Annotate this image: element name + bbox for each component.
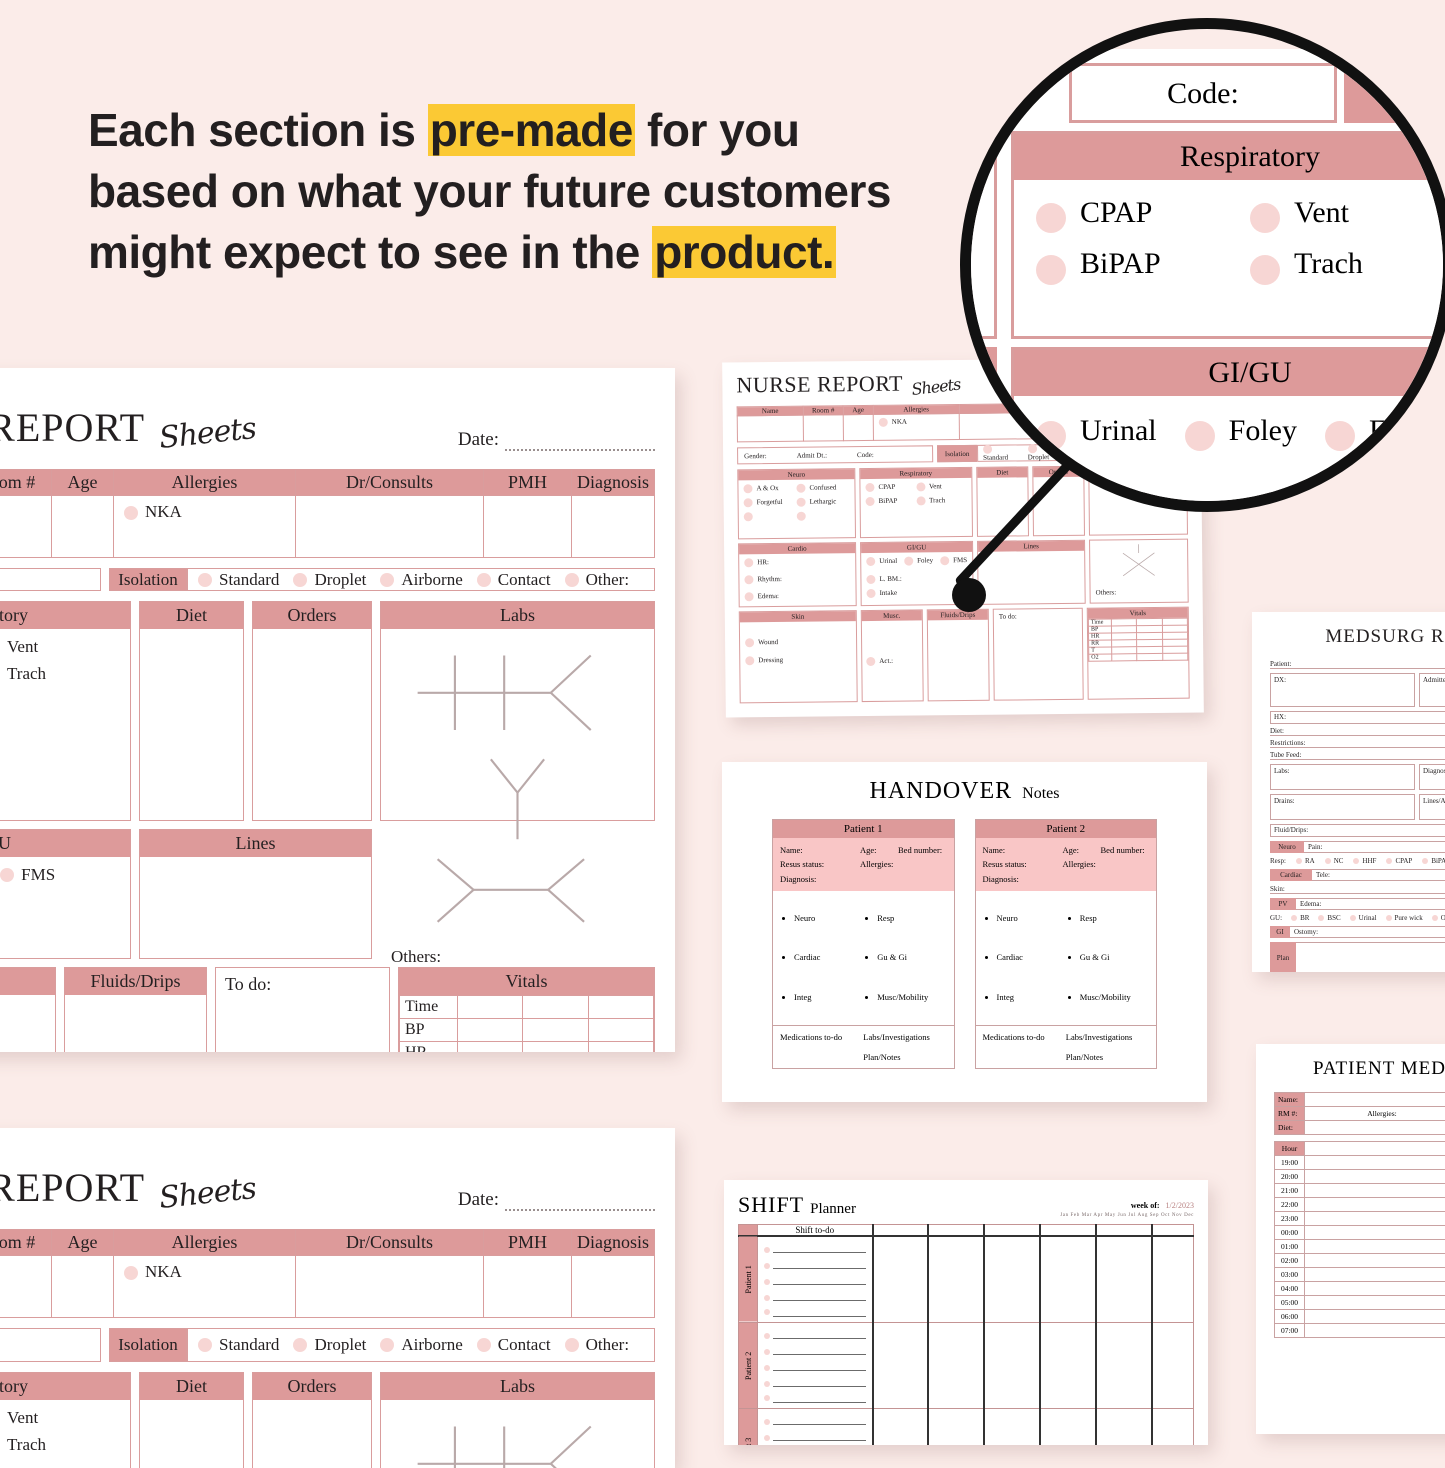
resp-option-trach[interactable]: Trach (916, 496, 967, 506)
headline-highlight-premade: pre-made (428, 104, 635, 156)
checkbox-icon[interactable] (764, 1279, 770, 1285)
mag-resp-option-cpap[interactable]: CPAP (1036, 196, 1250, 233)
resp-row: Resp: RA NC HHF CPAP BiPAP (1270, 857, 1445, 865)
month-aug[interactable]: Aug (1138, 1213, 1148, 1218)
resp-option-hhf[interactable]: HHF (1353, 857, 1376, 865)
isolation-options: Standard Droplet Airborne Contact Other: (187, 568, 655, 591)
panel-skin: Skin Wound Dressing (739, 610, 858, 703)
neuro-option-aox[interactable]: A & Ox (743, 484, 796, 494)
mag-gigu-option-foley[interactable]: Foley (1185, 414, 1297, 451)
panel-body[interactable] (140, 1400, 243, 1468)
cell-age[interactable] (52, 496, 114, 558)
sheet-title-script: Sheets (158, 1171, 258, 1216)
checkbox-icon[interactable] (764, 1295, 770, 1301)
panel-header: Labs (381, 1373, 654, 1400)
month-selector[interactable]: Jan Feb Mar Apr May Jun Jul Aug Sep Oct … (1060, 1213, 1194, 1218)
labs-fishbone-icon (1095, 544, 1182, 583)
field-diagnosis: Diagnosis: (780, 872, 947, 886)
isolation-strip: Code: Isolation Standard Droplet Airborn… (0, 568, 655, 591)
neuro-label: Neuro (1270, 841, 1304, 853)
resp-option-trach[interactable]: Trach (0, 664, 120, 684)
shift-title: SHIFT (738, 1192, 804, 1218)
checkbox-icon[interactable] (866, 557, 875, 566)
resp-option-vent[interactable]: Vent (0, 637, 120, 657)
panel-diet: Diet (139, 1372, 244, 1468)
panel-body: Urinal Foley FMS L. BM.: Intake (0, 857, 130, 972)
vitals-row-hr: HR (400, 1042, 654, 1053)
checkbox-icon[interactable] (866, 656, 875, 665)
nurse-report-sheet-large: NURSE REPORT Sheets Date: Name Room # Ag… (0, 368, 675, 1052)
day-col-3[interactable] (984, 1225, 1040, 1237)
hour-cell: 00:00 (1275, 1226, 1305, 1240)
hour-cell: 07:00 (1275, 1324, 1305, 1338)
mag-resp-option-vent[interactable]: Vent (1250, 196, 1445, 233)
checkbox-icon[interactable] (743, 484, 752, 493)
patient-footer[interactable]: Medications to-do Labs/InvestigationsPla… (976, 1025, 1157, 1068)
month-dec[interactable]: Dec (1184, 1213, 1194, 1218)
month-sep[interactable]: Sep (1150, 1213, 1159, 1218)
patient-fields[interactable]: Name:Age:Bed number: Resus status:Allerg… (773, 838, 954, 891)
diagnostics-field[interactable]: Diagnostics: (1419, 764, 1445, 790)
checkbox-icon[interactable] (744, 512, 753, 521)
checkbox-icon[interactable] (380, 1338, 394, 1352)
ostomy-field[interactable]: Ostomy: (1290, 926, 1445, 938)
gu-option-urinal[interactable]: Urinal (1350, 914, 1377, 922)
resp-option-bipap[interactable]: BiPAP (1422, 857, 1445, 865)
checkbox-icon[interactable] (764, 1419, 770, 1425)
checkbox-icon[interactable] (477, 573, 491, 587)
mag-isolation-label: Isolation (1344, 63, 1445, 123)
gu-option-br[interactable]: BR (1291, 914, 1309, 922)
resp-option-bipap[interactable]: BiPAP (866, 496, 917, 506)
checkbox-icon[interactable] (764, 1333, 770, 1339)
nka-checkbox-icon[interactable] (124, 506, 138, 520)
panel-labs-fishbone[interactable]: Others: (1089, 539, 1189, 604)
checkbox-icon[interactable] (0, 868, 14, 882)
checkbox-icon[interactable] (744, 498, 753, 507)
gu-option-purewick[interactable]: Pure wick (1386, 914, 1423, 922)
skin-option-wound[interactable]: Wound (745, 637, 851, 647)
day-cell[interactable] (1040, 1409, 1096, 1446)
day-col-1[interactable] (873, 1225, 929, 1237)
todo-cell[interactable] (758, 1236, 873, 1323)
panel-body[interactable] (928, 620, 989, 701)
day-cell[interactable] (928, 1323, 984, 1409)
hour-cell: 20:00 (1275, 1170, 1305, 1184)
hour-col-1[interactable] (1305, 1142, 1445, 1156)
checkbox-icon[interactable] (1353, 858, 1359, 864)
patient-footer[interactable]: Medications to-do Labs/InvestigationsPla… (773, 1025, 954, 1068)
dx-field[interactable]: DX: (1270, 673, 1415, 707)
cardio-option-rhythm[interactable]: Rhythm: (744, 574, 850, 584)
footer-plan: Plan/Notes (1066, 1052, 1103, 1062)
date-dotted-line[interactable] (505, 437, 655, 451)
gu-row: GU: BR BSC Urinal Pure wick Other: (1270, 914, 1445, 922)
cardio-option-hr[interactable]: HR: (744, 557, 850, 567)
checkbox-icon[interactable] (796, 484, 805, 493)
checkbox-icon[interactable] (1291, 915, 1297, 921)
checkbox-icon[interactable] (745, 656, 754, 665)
day-cell[interactable] (928, 1236, 984, 1323)
panel-neuro: Neuro A & Ox Forgetful Confused Lethargi… (737, 468, 856, 539)
hx-field[interactable]: HX: (1270, 711, 1445, 724)
resp-option-ra[interactable]: RA (1296, 857, 1315, 865)
panel-body: Act.: (862, 620, 923, 701)
checkbox-icon[interactable] (916, 496, 925, 505)
checkbox-icon[interactable] (293, 573, 307, 587)
panel-body[interactable] (978, 551, 1085, 604)
day-cell[interactable] (1152, 1409, 1194, 1446)
month-nov[interactable]: Nov (1172, 1213, 1182, 1218)
gu-option-other[interactable]: Other: (1432, 914, 1445, 922)
checkbox-icon[interactable] (866, 497, 875, 506)
drains-lines-row: Drains: Lines/Access: (1270, 794, 1445, 820)
col-pmh: PMH (484, 1230, 572, 1256)
mag-partial-body: c (960, 159, 997, 339)
mag-code-field[interactable]: Code: (1069, 63, 1337, 123)
day-cell[interactable] (1040, 1236, 1096, 1323)
checkbox-icon[interactable] (764, 1381, 770, 1387)
panel-body[interactable] (65, 995, 206, 1052)
month-apr[interactable]: Apr (1093, 1213, 1103, 1218)
assess-integ: Integ (997, 978, 1066, 1017)
plan-field[interactable] (1296, 942, 1445, 972)
code-field[interactable]: Code: (0, 568, 101, 591)
gender-code-field[interactable]: Gender: Admit Dt.: Code: (737, 445, 933, 464)
mag-gigu-option-urinal[interactable]: Urinal (1036, 414, 1157, 451)
todo-cell[interactable] (758, 1409, 873, 1446)
code-field[interactable]: Code: (0, 1328, 101, 1362)
sheet-title-script: Sheets (158, 411, 258, 456)
isolation-option-other[interactable]: Other: (565, 570, 629, 590)
checkbox-icon[interactable] (1036, 255, 1066, 285)
checkbox-icon[interactable] (293, 1338, 307, 1352)
day-col-6[interactable] (1152, 1225, 1194, 1237)
panel-body[interactable] (253, 1400, 371, 1468)
checkbox-icon[interactable] (380, 573, 394, 587)
vitals-label: O2 (1089, 654, 1112, 661)
pv-label: PV (1270, 898, 1296, 910)
plan-label: Plan (1270, 942, 1296, 972)
checkbox-icon[interactable] (764, 1263, 770, 1269)
footer-plan: Plan/Notes (863, 1052, 900, 1062)
checkbox-icon[interactable] (866, 575, 875, 584)
lines-access-field[interactable]: Lines/Access: (1419, 794, 1445, 820)
table-header-row: Name Room # Age Allergies Dr/Consults PM… (0, 1230, 655, 1256)
month-may[interactable]: May (1105, 1213, 1116, 1218)
mag-panel-header: Respiratory (1014, 134, 1445, 180)
panel-body[interactable] (381, 1400, 654, 1468)
isolation-option-airborne[interactable]: Airborne (380, 1335, 462, 1355)
day-cell[interactable] (1096, 1323, 1152, 1409)
sheet-title: NURSE REPORT (0, 404, 145, 451)
checkbox-icon[interactable] (745, 592, 754, 601)
checkbox-icon[interactable] (764, 1349, 770, 1355)
isolation-option-standard[interactable]: Standard (198, 570, 279, 590)
checkbox-icon[interactable] (764, 1365, 770, 1371)
resp-option-nc[interactable]: NC (1325, 857, 1344, 865)
headline-text-b: for you (635, 104, 800, 156)
cell-room[interactable] (0, 1256, 52, 1318)
neuro-pain-row: Neuro Pain: (1270, 841, 1445, 853)
isolation-option-standard[interactable]: Standard (198, 1335, 279, 1355)
patient-row-label: Patient 2 (739, 1323, 758, 1409)
week-of-value[interactable]: 1/2/2023 (1166, 1201, 1194, 1210)
tele-field[interactable]: Tele: (1312, 869, 1445, 881)
day-cell[interactable] (1152, 1236, 1194, 1323)
panel-body[interactable] (140, 629, 243, 820)
resp-option-cpap[interactable]: CPAP (1386, 857, 1412, 865)
checkbox-icon[interactable] (1036, 421, 1066, 451)
isolation-option-other[interactable]: Other: (565, 1335, 629, 1355)
checkbox-icon[interactable] (764, 1395, 770, 1401)
isolation-option-contact[interactable]: Contact (477, 1335, 551, 1355)
cell-diagnosis[interactable] (572, 1256, 655, 1318)
mag-gigu-option-fms[interactable]: FMS (1325, 414, 1429, 451)
restrictions-field[interactable]: Restrictions: (1270, 739, 1445, 748)
tube-feed-field[interactable]: Tube Feed: (1270, 751, 1445, 760)
day-cell[interactable] (1040, 1323, 1096, 1409)
checkbox-icon[interactable] (744, 558, 753, 567)
mag-panel-body: Urinal Foley FMS L. BM.: (1014, 396, 1445, 512)
isolation-options: Standard Droplet Airborne Contact Other: (187, 1328, 655, 1362)
diet-field[interactable]: Diet: (1270, 727, 1445, 736)
day-cell[interactable] (1152, 1323, 1194, 1409)
month-mar[interactable]: Mar (1082, 1213, 1092, 1218)
gigu-option-foley[interactable]: Foley (904, 556, 933, 565)
hour-cell: 03:00 (1275, 1268, 1305, 1282)
skin-option-dressing[interactable]: Dressing (745, 655, 851, 665)
sheet-title: NURSE REPORT (0, 1164, 145, 1211)
patient-field[interactable]: Patient: (1270, 660, 1445, 669)
date-field[interactable]: Date: (458, 429, 655, 451)
cardio-option-edema[interactable]: Edema: (745, 591, 851, 601)
hour-cell: 06:00 (1275, 1310, 1305, 1324)
checkbox-icon[interactable] (797, 498, 806, 507)
headline-line-1: Each section is pre-made for you (88, 104, 799, 156)
labs-others-label: Others: (1096, 588, 1117, 596)
neuro-option-blank-1[interactable] (744, 512, 797, 522)
checkbox-icon[interactable] (565, 1338, 579, 1352)
day-cell[interactable] (873, 1236, 929, 1323)
checkbox-icon[interactable] (1250, 203, 1280, 233)
fluid-drips-field[interactable]: Fluid/Drips: (1270, 824, 1445, 837)
resp-option-vent[interactable]: Vent (0, 1408, 120, 1428)
checkbox-icon[interactable] (940, 556, 949, 565)
mag-resp-option-bipap[interactable]: BiPAP (1036, 247, 1250, 284)
checkbox-icon[interactable] (1318, 915, 1324, 921)
month-oct[interactable]: Oct (1161, 1213, 1170, 1218)
panel-todo[interactable]: To do: (215, 967, 390, 1052)
panel-vitals: Vitals Time BP HR RR T O2 (1087, 607, 1190, 700)
month-jul[interactable]: Jul (1128, 1213, 1136, 1218)
day-cell[interactable] (1096, 1409, 1152, 1446)
day-cell[interactable] (928, 1409, 984, 1446)
patient-medication-sheet: PATIENT MEDICATION Name: RM #: Allergies… (1256, 1044, 1445, 1434)
code-label: Code: (857, 450, 874, 458)
table-row: 21:00 (1275, 1184, 1445, 1198)
vitals-table: Time BP HR RR T O2 (399, 995, 654, 1052)
isolation-option-droplet[interactable]: Droplet (293, 570, 366, 590)
date-field[interactable]: Date: (458, 1189, 655, 1211)
checkbox-icon[interactable] (797, 512, 806, 521)
checkbox-icon[interactable] (1350, 915, 1356, 921)
checkbox-icon[interactable] (764, 1435, 770, 1441)
pain-field[interactable]: Pain: (1304, 841, 1445, 853)
resp-option-trach[interactable]: Trach (0, 1435, 120, 1455)
table-header-row: Name Room # Age Allergies Dr/Consults PM… (0, 470, 655, 496)
patient-assessment[interactable]: Neuro Cardiac Integ Resp Gu & Gi Musc/Mo… (773, 891, 954, 1024)
checkbox-icon[interactable] (1432, 915, 1438, 921)
cell-age[interactable] (52, 1256, 114, 1318)
assess-integ: Integ (794, 978, 863, 1017)
checkbox-icon[interactable] (198, 1338, 212, 1352)
panel-header: GI/GU (0, 830, 130, 857)
month-jun[interactable]: Jun (1118, 1213, 1127, 1218)
edema-field[interactable]: Edema: (1296, 898, 1445, 910)
gigu-option-fms[interactable]: FMS (940, 556, 967, 565)
col-diagnosis: Diagnosis (572, 1230, 655, 1256)
day-cell[interactable] (873, 1323, 929, 1409)
day-cell[interactable] (984, 1409, 1040, 1446)
neuro-option-forgetful[interactable]: Forgetful (744, 498, 797, 508)
day-cell[interactable] (1096, 1236, 1152, 1323)
checkbox-icon[interactable] (198, 573, 212, 587)
patient-rm-iso-row: Patient: RM #: ISO: (1270, 660, 1445, 669)
neuro-option-blank-2[interactable] (797, 511, 850, 521)
panel-body[interactable] (253, 629, 371, 820)
checkbox-icon[interactable] (1036, 203, 1066, 233)
cell-dr-consults[interactable] (296, 496, 484, 558)
month-feb[interactable]: Feb (1071, 1213, 1080, 1218)
checkbox-icon[interactable] (764, 1247, 770, 1253)
cell-dr-consults[interactable] (296, 1256, 484, 1318)
checkbox-icon[interactable] (1422, 858, 1428, 864)
gu-option-bsc[interactable]: BSC (1318, 914, 1340, 922)
resp-option-vent[interactable]: Vent (916, 482, 967, 492)
cell-allergies[interactable]: NKA (873, 414, 959, 441)
checkbox-icon[interactable] (867, 589, 876, 598)
day-cell[interactable] (984, 1323, 1040, 1409)
nka-checkbox-icon[interactable] (124, 1266, 138, 1280)
gigu-option-fms[interactable]: FMS (0, 865, 55, 885)
month-jan[interactable]: Jan (1060, 1213, 1068, 1218)
checkbox-icon[interactable] (865, 483, 874, 492)
allergies-label[interactable]: Allergies: (1305, 1107, 1445, 1121)
panel-body[interactable]: Others: (381, 629, 654, 983)
checkbox-icon[interactable] (744, 575, 753, 584)
drains-field[interactable]: Drains: (1270, 794, 1415, 820)
date-dotted-line[interactable] (505, 1197, 655, 1211)
panel-header: Respiratory (0, 602, 130, 629)
checkbox-icon[interactable] (916, 482, 925, 491)
panel-fluids: Fluids/Drips (64, 967, 207, 1052)
gigu-option-urinal[interactable]: Urinal (866, 557, 897, 566)
day-col-5[interactable] (1096, 1225, 1152, 1237)
cell-name[interactable] (737, 415, 803, 442)
panel-header: Respiratory (0, 1373, 130, 1400)
checkbox-icon[interactable] (745, 638, 754, 647)
labs-field[interactable]: Labs: (1270, 764, 1415, 790)
cell-age[interactable] (843, 414, 873, 440)
gi-label: GI (1270, 926, 1290, 938)
checkbox-icon[interactable] (565, 573, 579, 587)
patient-assessment[interactable]: Neuro Cardiac Integ Resp Gu & Gi Musc/Mo… (976, 891, 1157, 1024)
isolation-option-contact[interactable]: Contact (477, 570, 551, 590)
mag-resp-option-trach[interactable]: Trach (1250, 247, 1445, 284)
vitals-label: Time (400, 996, 458, 1019)
col-pmh: PMH (484, 470, 572, 496)
vitals-label: HR (400, 1042, 458, 1053)
isolation-option-airborne[interactable]: Airborne (380, 570, 462, 590)
todo-cell[interactable] (758, 1323, 873, 1409)
neuro-option-lethargic[interactable]: Lethargic (797, 497, 850, 507)
panel-body: CPAP BiPAP Vent Trach (860, 478, 972, 537)
diet-field[interactable] (1305, 1121, 1445, 1135)
checkbox-icon[interactable] (1296, 858, 1302, 864)
field-age: Age: (860, 843, 898, 857)
cell-pmh[interactable] (484, 496, 572, 558)
checkbox-icon[interactable] (1325, 421, 1355, 451)
checkbox-icon[interactable] (1386, 915, 1392, 921)
field-age: Age: (1063, 843, 1101, 857)
cell-allergies[interactable]: NKA (114, 1256, 296, 1318)
cell-room[interactable] (0, 496, 52, 558)
vitals-row-time: Time (400, 996, 654, 1019)
checkbox-icon[interactable] (904, 557, 913, 566)
gigu-last-bm[interactable]: L. BM.: (866, 574, 967, 584)
assess-gugi: Gu & Gi (877, 938, 946, 977)
table-row: 04:00 (1275, 1282, 1445, 1296)
panel-respiratory: Respiratory CPAP BiPAP Vent Trach (0, 1372, 131, 1468)
panel-todo[interactable]: To do: (993, 608, 1084, 701)
cell-allergies[interactable]: NKA (114, 496, 296, 558)
cardiac-ms-row: Cardiac Tele: MS Mobility (1270, 869, 1445, 881)
panel-body[interactable] (140, 857, 371, 958)
gigu-last-bm[interactable]: L. BM.: (0, 910, 120, 930)
gu-label: GU: (1270, 914, 1282, 922)
name-field[interactable] (1305, 1093, 1445, 1107)
panel-labs: Labs (380, 1372, 655, 1468)
resp-option-cpap[interactable]: CPAP (865, 482, 916, 492)
admitted-field[interactable]: Admitted: (1419, 673, 1445, 707)
cell-diagnosis[interactable] (572, 496, 655, 558)
checkbox-icon[interactable] (1185, 421, 1215, 451)
assess-musc: Musc/Mobility (877, 978, 946, 1017)
checkbox-icon[interactable] (1386, 858, 1392, 864)
day-col-4[interactable] (1040, 1225, 1096, 1237)
checkbox-icon[interactable] (1325, 858, 1331, 864)
day-cell[interactable] (984, 1236, 1040, 1323)
isolation-option-droplet[interactable]: Droplet (293, 1335, 366, 1355)
cell-room[interactable] (803, 415, 843, 441)
patient-fields[interactable]: Name:Age:Bed number: Resus status:Allerg… (976, 838, 1157, 891)
panel-lines: Lines (139, 829, 372, 959)
panel-header: Labs (381, 602, 654, 629)
cell-pmh[interactable] (484, 1256, 572, 1318)
table-row: 19:00 (1275, 1156, 1445, 1170)
nka-checkbox-icon[interactable] (879, 418, 888, 427)
day-col-2[interactable] (928, 1225, 984, 1237)
gigu-intake[interactable]: Intake (0, 937, 120, 957)
musc-option-act[interactable]: Act.: (866, 656, 893, 665)
neuro-option-confused[interactable]: Confused (796, 483, 849, 493)
skin-field[interactable]: Skin: (1270, 885, 1445, 894)
checkbox-icon[interactable] (477, 1338, 491, 1352)
day-cell[interactable] (873, 1409, 929, 1446)
checkbox-icon[interactable] (764, 1309, 770, 1315)
checkbox-icon[interactable] (1250, 255, 1280, 285)
